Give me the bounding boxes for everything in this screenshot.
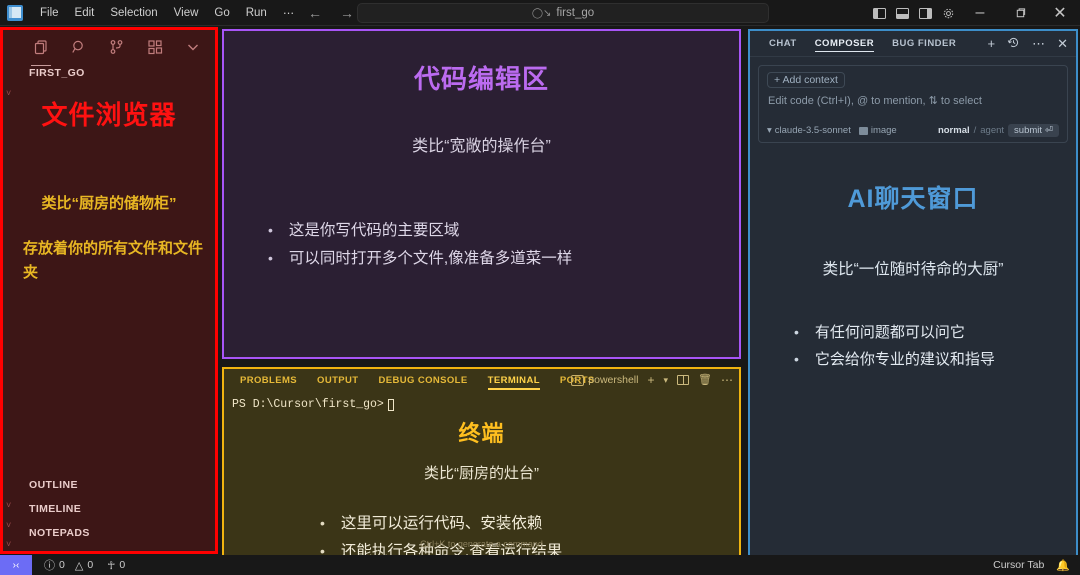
source-control-icon[interactable] (109, 39, 125, 60)
history-icon[interactable] (1007, 36, 1020, 51)
menu-file[interactable]: File (32, 4, 67, 22)
menu-more-icon[interactable]: ⋯ (275, 3, 303, 23)
sidebar-annotation-body: 存放着你的所有文件和文件夹 (3, 237, 215, 284)
tab-problems[interactable]: PROBLEMS (230, 375, 307, 386)
composer-input-box[interactable]: + Add context Edit code (Ctrl+I), @ to m… (758, 65, 1068, 143)
ai-chat-panel: CHAT COMPOSER BUG FINDER + ⋯ ✕ + Add con… (748, 29, 1078, 557)
terminal-annotation-bullets: • 这里可以运行代码、安装依赖 • 还能执行各种命令,查看运行结果 (320, 511, 739, 561)
terminal-panel[interactable]: PROBLEMS OUTPUT DEBUG CONSOLE TERMINAL P… (222, 367, 741, 557)
list-item: • 有任何问题都可以问它 (794, 321, 1076, 342)
ai-annotation-title: AI聊天窗口 (750, 179, 1076, 215)
cursor-window: File Edit Selection View Go Run ⋯ ← → ◯↘… (0, 0, 1080, 575)
model-selector[interactable]: ▾ claude-3.5-sonnet (767, 125, 851, 136)
panel-right-icon[interactable] (914, 0, 937, 26)
panel-bottom-icon[interactable] (891, 0, 914, 26)
chevron-down-icon: ▾ (767, 125, 772, 136)
bullet-icon: • (794, 325, 799, 339)
terminal-prompt-line: PS D:\Cursor\first_go> (224, 391, 739, 411)
cursor-tab-status[interactable]: Cursor Tab (993, 559, 1044, 571)
ellipsis-icon[interactable]: ⋯ (721, 374, 733, 386)
bullet-icon: • (320, 516, 325, 530)
split-editor-icon[interactable] (677, 375, 689, 385)
mode-toggle-group: normal / agent submit ⏎ (938, 124, 1059, 137)
mode-agent-button[interactable]: agent (980, 125, 1004, 136)
model-name: claude-3.5-sonnet (775, 125, 851, 136)
warning-triangle-icon: △ (75, 559, 83, 572)
code-editor-area[interactable]: 代码编辑区 类比“宽敞的操作台” • 这是你写代码的主要区域 • 可以同时打开多… (222, 29, 741, 359)
sidebar-annotation-title: 文件浏览器 (3, 95, 215, 132)
chevron-right-icon[interactable]: ˅ (6, 88, 11, 98)
close-button[interactable]: ✕ (1040, 0, 1080, 26)
chevron-down-icon[interactable]: ▾ (664, 376, 669, 385)
terminal-hint: Ctrl+K to generate a command (224, 539, 739, 549)
explorer-project-name[interactable]: FIRST_GO (3, 67, 215, 79)
plus-icon[interactable]: + (647, 374, 654, 386)
tab-chat[interactable]: CHAT (760, 38, 806, 49)
sidebar-activity-icons (3, 30, 215, 63)
close-icon[interactable]: ✕ (1057, 37, 1068, 50)
remote-window-icon[interactable]: ›‹ (0, 555, 32, 575)
tab-output[interactable]: OUTPUT (307, 375, 368, 386)
status-problems[interactable]: ⓘ 0 △ 0 (44, 557, 93, 573)
bullet-icon: • (794, 352, 799, 366)
radio-tower-icon: ☥ (107, 559, 115, 572)
explorer-icon[interactable] (33, 39, 49, 60)
tab-bug-finder[interactable]: BUG FINDER (883, 38, 965, 49)
sidebar-section-outline[interactable]: OUTLINE (3, 473, 215, 497)
plus-icon[interactable]: + (988, 37, 996, 50)
bell-icon[interactable]: 🔔 (1056, 559, 1070, 572)
navigation-arrows: ← → (308, 6, 354, 20)
sidebar-annotation-subtitle: 类比“厨房的储物柜” (3, 192, 215, 215)
ai-tab-bar: CHAT COMPOSER BUG FINDER + ⋯ ✕ (750, 31, 1076, 57)
bullet-text: 可以同时打开多个文件,像准备多道菜一样 (289, 246, 572, 268)
menu-go[interactable]: Go (206, 4, 237, 22)
list-item: • 这是你写代码的主要区域 (268, 218, 739, 240)
maximize-button[interactable] (1000, 0, 1040, 26)
list-item: • 可以同时打开多个文件,像准备多道菜一样 (268, 246, 739, 268)
window-actions: – ✕ (868, 0, 1080, 26)
terminal-tab-bar: PROBLEMS OUTPUT DEBUG CONSOLE TERMINAL P… (224, 369, 739, 391)
warnings-count: 0 (87, 559, 93, 571)
main-menu: File Edit Selection View Go Run ⋯ (32, 3, 302, 23)
bullet-text: 这里可以运行代码、安装依赖 (341, 511, 543, 533)
list-item: • 这里可以运行代码、安装依赖 (320, 511, 739, 533)
submit-button[interactable]: submit ⏎ (1008, 124, 1059, 137)
submit-label: submit (1014, 125, 1042, 136)
ellipsis-icon[interactable]: ⋯ (1032, 37, 1045, 50)
tab-terminal[interactable]: TERMINAL (478, 375, 550, 386)
arrow-left-icon[interactable]: ← (308, 6, 322, 20)
status-ports[interactable]: ☥ 0 (107, 559, 125, 572)
list-item: • 它会给你专业的建议和指导 (794, 348, 1076, 369)
search-icon: ◯↘ (532, 8, 552, 19)
terminal-annotation-subtitle: 类比“厨房的灶台” (224, 462, 739, 483)
chevron-down-icon[interactable] (185, 39, 201, 60)
terminal-caret (388, 399, 394, 411)
search-input[interactable]: ◯↘ first_go (357, 3, 769, 23)
bullet-icon: • (268, 251, 273, 265)
arrow-right-icon[interactable]: → (340, 6, 354, 20)
panel-left-icon[interactable] (868, 0, 891, 26)
extensions-icon[interactable] (147, 39, 163, 60)
status-right-group: Cursor Tab 🔔 (993, 559, 1080, 572)
bullet-icon: • (268, 223, 273, 237)
menu-edit[interactable]: Edit (67, 4, 103, 22)
ai-annotation-bullets: • 有任何问题都可以问它 • 它会给你专业的建议和指导 (794, 321, 1076, 369)
search-value: first_go (556, 7, 594, 19)
terminal-shell-name: powershell (588, 374, 638, 386)
bullet-text: 这是你写代码的主要区域 (289, 218, 460, 240)
menu-view[interactable]: View (166, 4, 207, 22)
menu-run[interactable]: Run (238, 4, 275, 22)
terminal-toolbar: >_ powershell + ▾ 🗑 ⋯ (571, 374, 733, 386)
errors-count: 0 (59, 559, 65, 571)
radio-count: 0 (119, 559, 125, 571)
search-icon[interactable] (71, 39, 87, 60)
add-context-button[interactable]: + Add context (767, 72, 845, 88)
menu-selection[interactable]: Selection (102, 4, 165, 22)
minimize-button[interactable]: – (960, 0, 1000, 26)
terminal-annotation-title: 终端 (224, 416, 739, 448)
enter-key-icon: ⏎ (1045, 125, 1053, 136)
editor-annotation-subtitle: 类比“宽敞的操作台” (224, 132, 739, 156)
image-icon (859, 127, 868, 135)
editor-annotation-bullets: • 这是你写代码的主要区域 • 可以同时打开多个文件,像准备多道菜一样 (268, 218, 739, 268)
bullet-text: 它会给你专业的建议和指导 (815, 348, 995, 369)
sidebar-bottom-sections: OUTLINE TIMELINE NOTEPADS (3, 473, 215, 545)
ai-annotation-subtitle: 类比“一位随时待命的大厨” (750, 257, 1076, 279)
composer-footer: ▾ claude-3.5-sonnet image normal / agent… (759, 124, 1067, 137)
editor-annotation-title: 代码编辑区 (224, 59, 739, 96)
sidebar-section-timeline[interactable]: TIMELINE (3, 497, 215, 521)
status-bar: ›‹ ⓘ 0 △ 0 ☥ 0 Cursor Tab 🔔 (0, 555, 1080, 575)
file-explorer-sidebar: ˅ ˅ ˅ ˅ FIRST_GO 文件浏览器 类比“厨房的储物柜” (0, 27, 218, 554)
mode-separator: / (974, 125, 977, 136)
mode-normal-button[interactable]: normal (938, 125, 970, 136)
ai-panel-toolbar: + ⋯ ✕ (988, 36, 1069, 51)
cursor-app-icon (7, 5, 23, 21)
composer-placeholder[interactable]: Edit code (Ctrl+I), @ to mention, ⇅ to s… (768, 94, 1067, 107)
error-circle-icon: ⓘ (44, 557, 55, 573)
image-label: image (871, 125, 897, 136)
tab-debug-console[interactable]: DEBUG CONSOLE (369, 375, 478, 386)
gear-icon[interactable] (937, 0, 960, 26)
terminal-icon: >_ (571, 375, 584, 386)
terminal-prompt-text: PS D:\Cursor\first_go> (232, 398, 384, 411)
attach-image-button[interactable]: image (859, 125, 897, 136)
title-bar: File Edit Selection View Go Run ⋯ ← → ◯↘… (0, 0, 1080, 26)
bullet-text: 有任何问题都可以问它 (815, 321, 965, 342)
terminal-shell-chip[interactable]: >_ powershell (571, 374, 638, 386)
trash-icon[interactable]: 🗑 (698, 375, 712, 386)
sidebar-section-notepads[interactable]: NOTEPADS (3, 521, 215, 545)
tab-composer[interactable]: COMPOSER (806, 38, 883, 49)
